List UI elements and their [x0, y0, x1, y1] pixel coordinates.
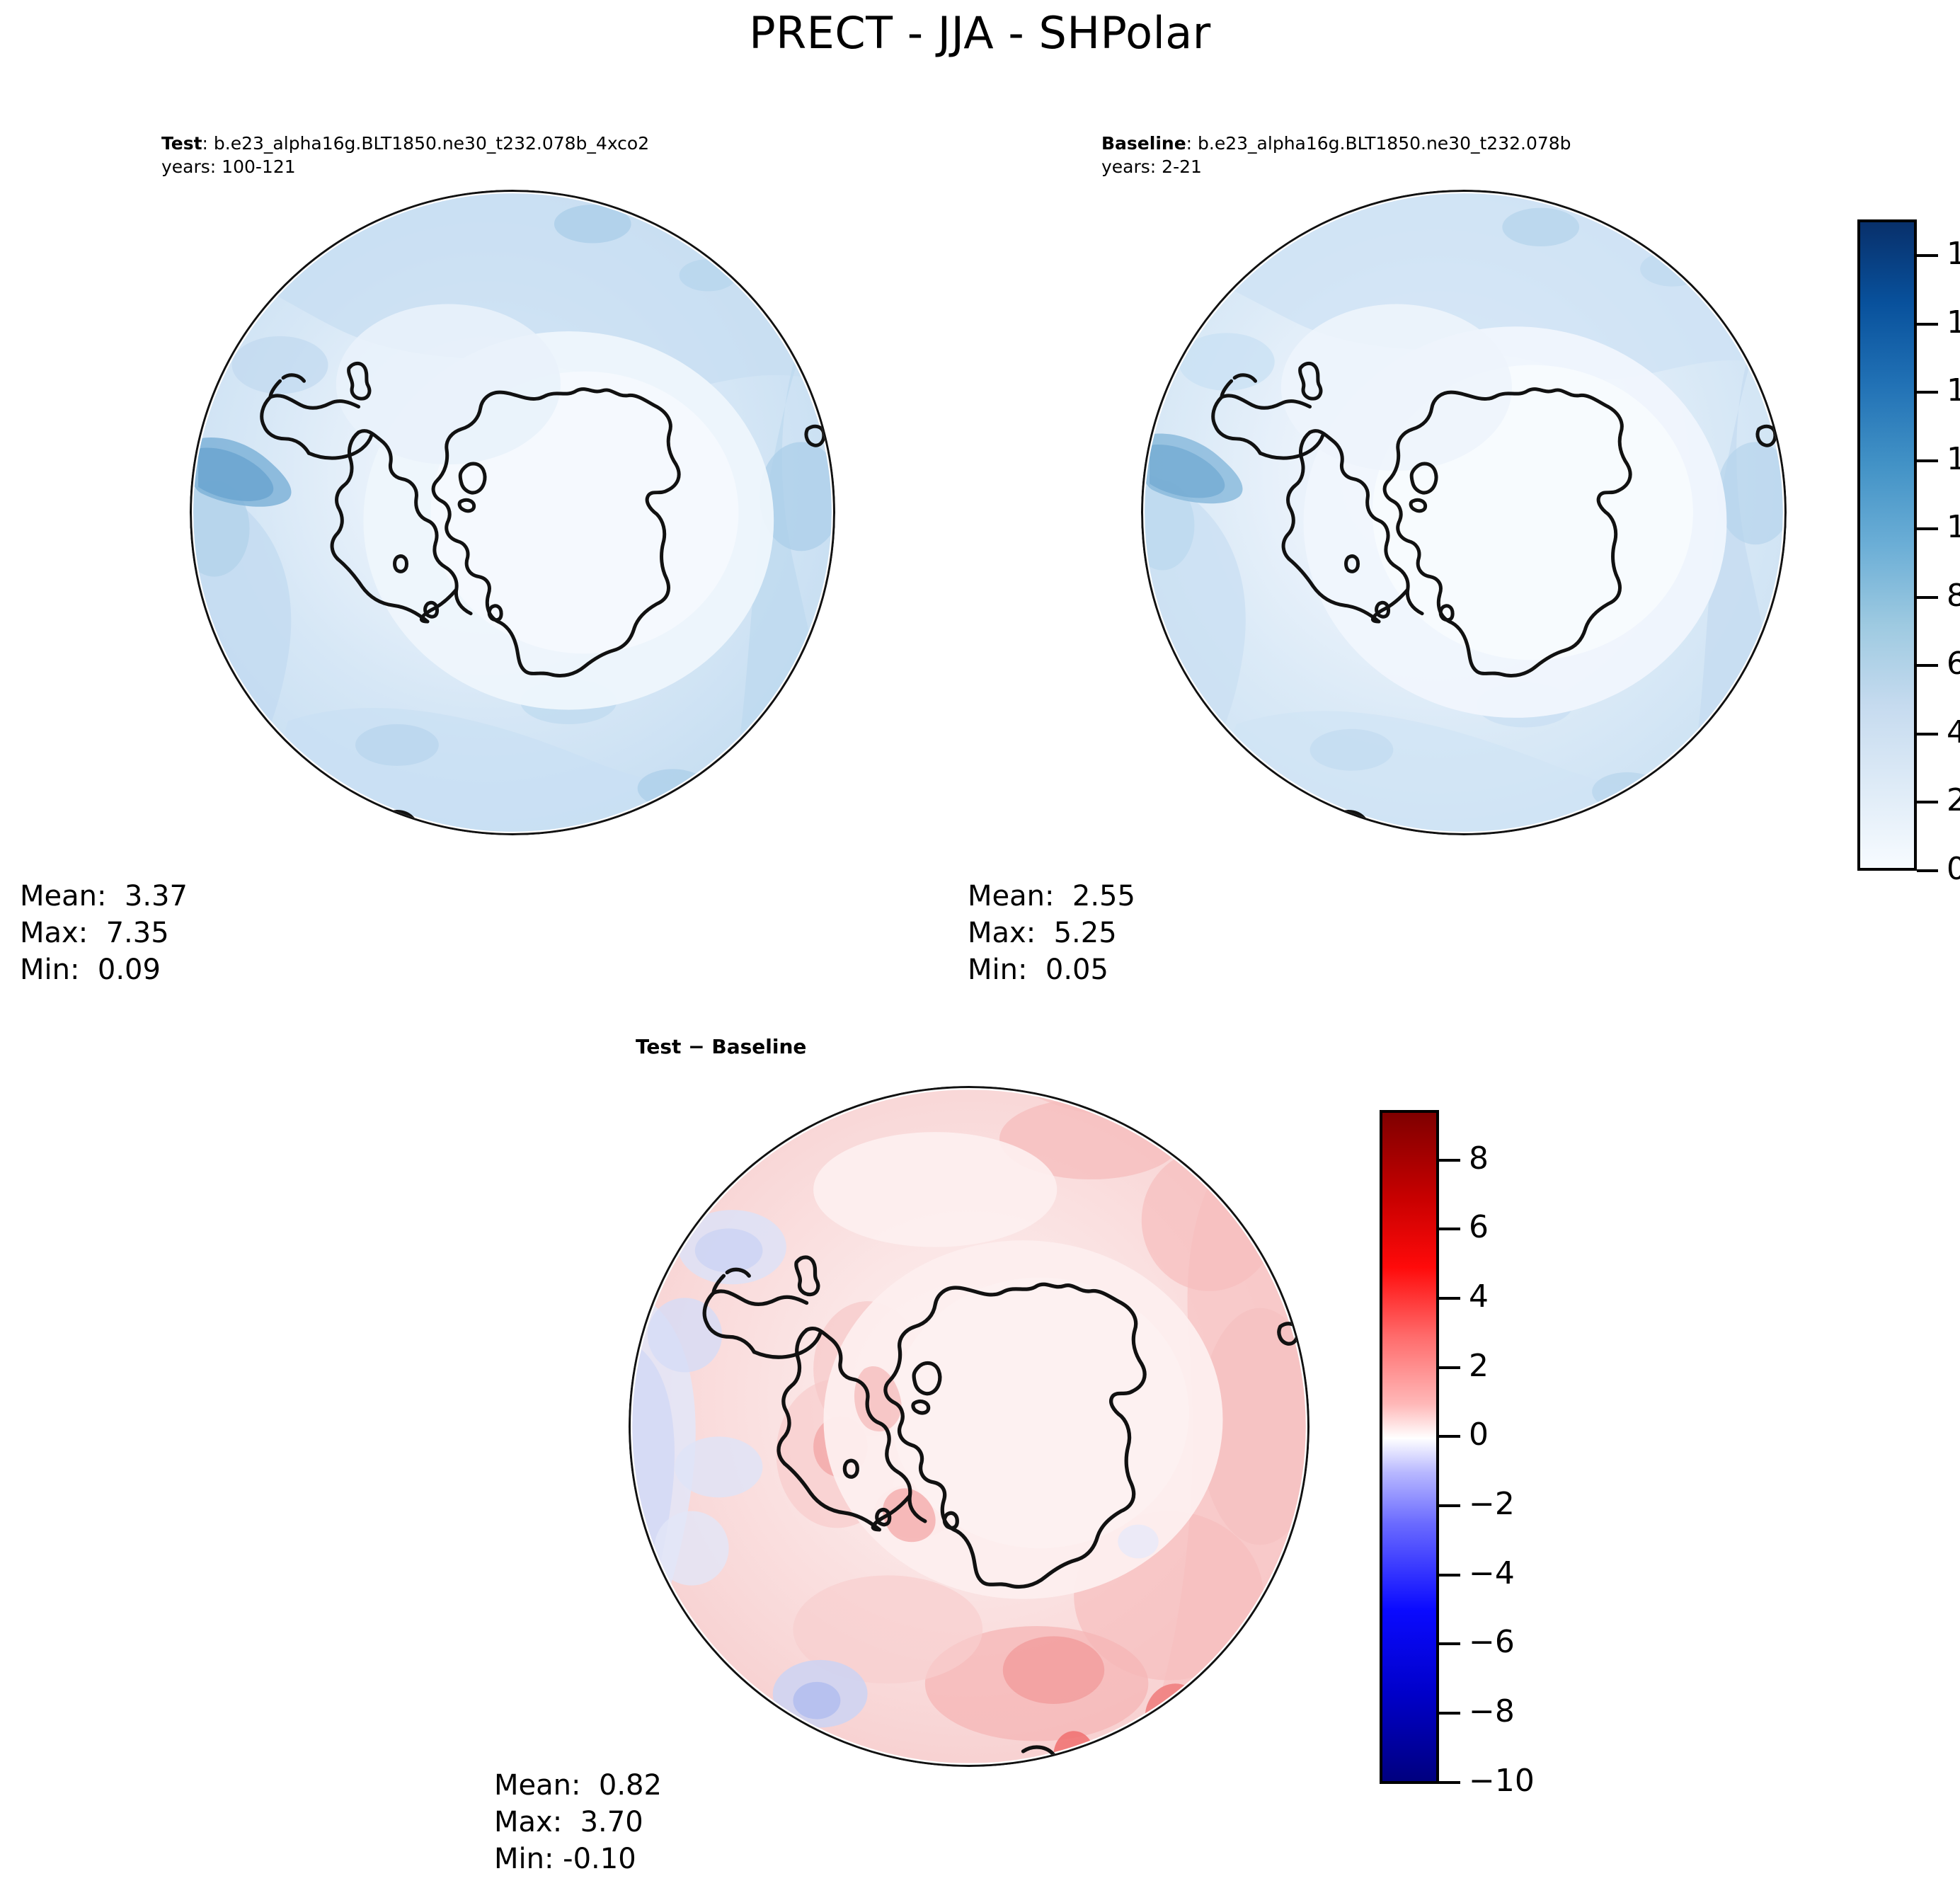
main-colorbar-label-6: 6: [1947, 648, 1960, 680]
test-years: years: 100-121: [161, 155, 649, 178]
diff-colorbar-tick: [1439, 1574, 1460, 1577]
map-panel-baseline[interactable]: [1141, 190, 1787, 835]
map-field-test: [192, 192, 833, 833]
map-disc-baseline: [1141, 190, 1787, 835]
main-colorbar-label-8: 8: [1947, 580, 1960, 612]
main-colorbar-label-4: 4: [1947, 717, 1960, 748]
map-field-difference: [631, 1088, 1307, 1765]
test-label: Test: [161, 133, 202, 154]
main-colorbar-tick: [1917, 664, 1938, 667]
main-colorbar-tick: [1917, 254, 1938, 257]
baseline-label: Baseline: [1101, 133, 1186, 154]
baseline-years: years: 2-21: [1101, 155, 1571, 178]
map-disc-difference: [629, 1086, 1309, 1767]
baseline-panel-header: Baseline: b.e23_alpha16g.BLT1850.ne30_t2…: [1101, 132, 1571, 178]
main-colorbar-box: [1857, 219, 1917, 871]
stats-baseline: Mean: 2.55 Max: 5.25 Min: 0.05: [968, 878, 1135, 988]
diff-colorbar-label-minus6: −6: [1469, 1627, 1515, 1658]
diff-colorbar-label-minus4: −4: [1469, 1558, 1515, 1589]
main-colorbar-label-12: 12: [1947, 444, 1960, 475]
main-colorbar-label-16: 16: [1947, 307, 1960, 338]
diff-colorbar-tick: [1439, 1228, 1460, 1230]
main-colorbar-tick: [1917, 527, 1938, 530]
diff-colorbar-label-8: 8: [1469, 1143, 1489, 1174]
diff-colorbar-tick: [1439, 1781, 1460, 1784]
map-panel-difference[interactable]: [629, 1086, 1309, 1767]
polar-map-difference: [631, 1088, 1307, 1765]
main-colorbar-tick: [1917, 733, 1938, 736]
diff-colorbar-tick: [1439, 1297, 1460, 1300]
diff-colorbar-tick: [1439, 1642, 1460, 1645]
diff-colorbar-label-0: 0: [1469, 1419, 1489, 1451]
map-field-baseline: [1143, 192, 1784, 833]
main-colorbar-label-18: 18: [1947, 239, 1960, 270]
map-disc-test: [190, 190, 835, 835]
stats-test: Mean: 3.37 Max: 7.35 Min: 0.09: [20, 878, 188, 988]
main-colorbar-tick: [1917, 801, 1938, 803]
polar-map-test: [192, 192, 833, 833]
main-colorbar-label-14: 14: [1947, 375, 1960, 406]
diff-colorbar-label-4: 4: [1469, 1281, 1489, 1312]
main-colorbar-tick: [1917, 459, 1938, 462]
main-colorbar[interactable]: 0 2 4 6 8 10 12 14 16 18: [1857, 219, 1917, 871]
figure-title: PRECT - JJA - SHPolar: [0, 6, 1960, 61]
diff-colorbar-label-6: 6: [1469, 1212, 1489, 1243]
main-colorbar-gradient: [1860, 222, 1914, 868]
test-case-name: b.e23_alpha16g.BLT1850.ne30_t232.078b_4x…: [214, 133, 649, 154]
diff-colorbar-box: [1380, 1110, 1439, 1784]
test-separator: :: [202, 133, 208, 154]
main-colorbar-tick: [1917, 391, 1938, 394]
main-colorbar-label-0: 0: [1947, 854, 1960, 885]
diff-colorbar-label-2: 2: [1469, 1351, 1489, 1382]
main-colorbar-tick: [1917, 596, 1938, 599]
diff-colorbar[interactable]: −10 −8 −6 −4 −2 0 2 4 6 8: [1380, 1110, 1439, 1784]
baseline-case-name: b.e23_alpha16g.BLT1850.ne30_t232.078b: [1198, 133, 1571, 154]
main-colorbar-label-10: 10: [1947, 512, 1960, 543]
main-colorbar-tick: [1917, 323, 1938, 326]
diff-colorbar-tick: [1439, 1159, 1460, 1162]
main-colorbar-tick: [1917, 869, 1938, 872]
diff-colorbar-tick: [1439, 1712, 1460, 1715]
diff-colorbar-label-minus2: −2: [1469, 1489, 1515, 1520]
diff-colorbar-tick: [1439, 1504, 1460, 1507]
diff-colorbar-label-minus8: −8: [1469, 1696, 1515, 1727]
diff-colorbar-label-minus10: −10: [1469, 1766, 1535, 1797]
main-colorbar-label-2: 2: [1947, 785, 1960, 816]
diff-colorbar-gradient: [1382, 1113, 1436, 1781]
stats-difference: Mean: 0.82 Max: 3.70 Min: -0.10: [494, 1767, 662, 1877]
diff-panel-title: Test − Baseline: [636, 1034, 806, 1060]
diff-colorbar-tick: [1439, 1435, 1460, 1438]
polar-map-baseline: [1143, 192, 1784, 833]
test-panel-header: Test: b.e23_alpha16g.BLT1850.ne30_t232.0…: [161, 132, 649, 178]
baseline-separator: :: [1186, 133, 1192, 154]
map-panel-test[interactable]: [190, 190, 835, 835]
diff-colorbar-tick: [1439, 1366, 1460, 1369]
